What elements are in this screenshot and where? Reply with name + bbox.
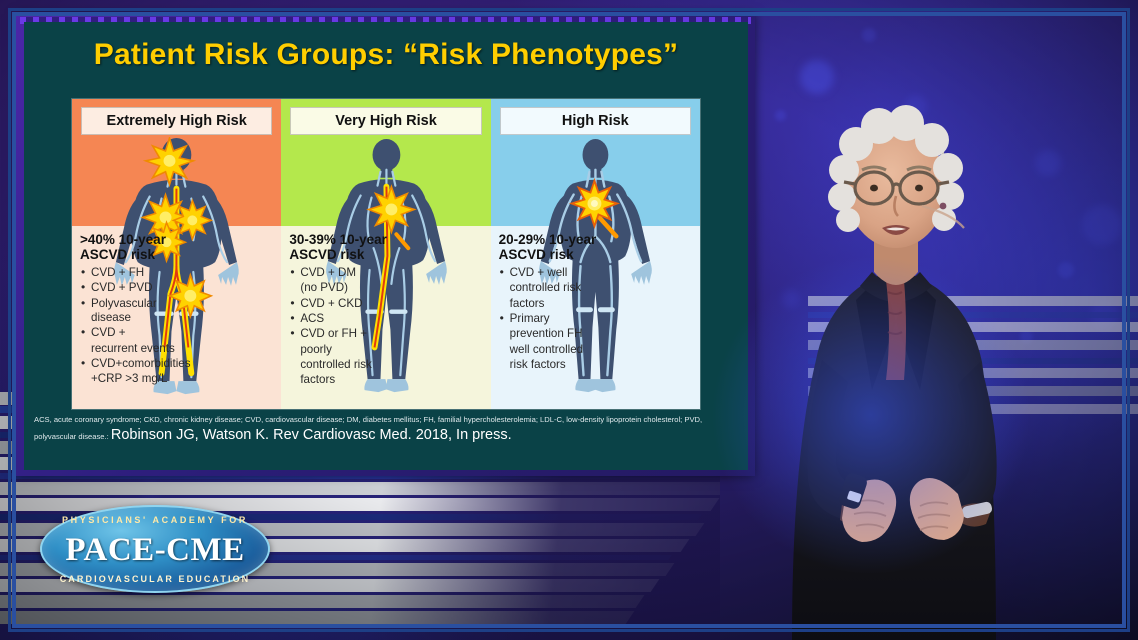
list-item: CVD + CKD [289,297,397,311]
list-item: Polyvascular disease [80,297,188,326]
list-item: risk factors [499,358,607,372]
list-item: +CRP >3 mg/L [80,372,188,386]
list-item: CVD + [80,326,188,340]
risk-heading: 20-29% 10-year ASCVD risk [499,232,607,263]
list-item: poorly [289,343,397,357]
video-frame: Patient Risk Groups: “Risk Phenotypes” [0,0,1138,640]
risk-criteria-list: CVD + well controlled risk factors Prima… [499,266,607,373]
list-item: factors [499,297,607,311]
list-item: CVD + PVD [80,281,188,295]
risk-heading: >40% 10-year ASCVD risk [80,232,188,263]
list-item: (no PVD) [289,281,397,295]
list-item: recurrent events [80,342,188,356]
list-item: controlled risk [499,281,607,295]
list-item: Primary [499,312,607,326]
column-body-3: 20-29% 10-year ASCVD risk CVD + well con… [499,232,607,373]
risk-criteria-list: CVD + FH CVD + PVD Polyvascular disease … [80,266,188,387]
list-item: CVD+comorbidities [80,357,188,371]
risk-criteria-list: CVD + DM (no PVD) CVD + CKD ACS CVD or F… [289,266,397,388]
risk-heading: 30-39% 10-year ASCVD risk [289,232,397,263]
list-item: CVD or FH + [289,327,397,341]
list-item: well controlled [499,343,607,357]
list-item: CVD + DM [289,266,397,280]
list-item: CVD + FH [80,266,188,280]
column-body-2: 30-39% 10-year ASCVD risk CVD + DM (no P… [289,232,397,389]
list-item: prevention FH [499,327,607,341]
list-item: ACS [289,312,397,326]
column-body-1: >40% 10-year ASCVD risk CVD + FH CVD + P… [80,232,188,388]
list-item: factors [289,373,397,387]
list-item: CVD + well [499,266,607,280]
list-item: controlled risk [289,358,397,372]
